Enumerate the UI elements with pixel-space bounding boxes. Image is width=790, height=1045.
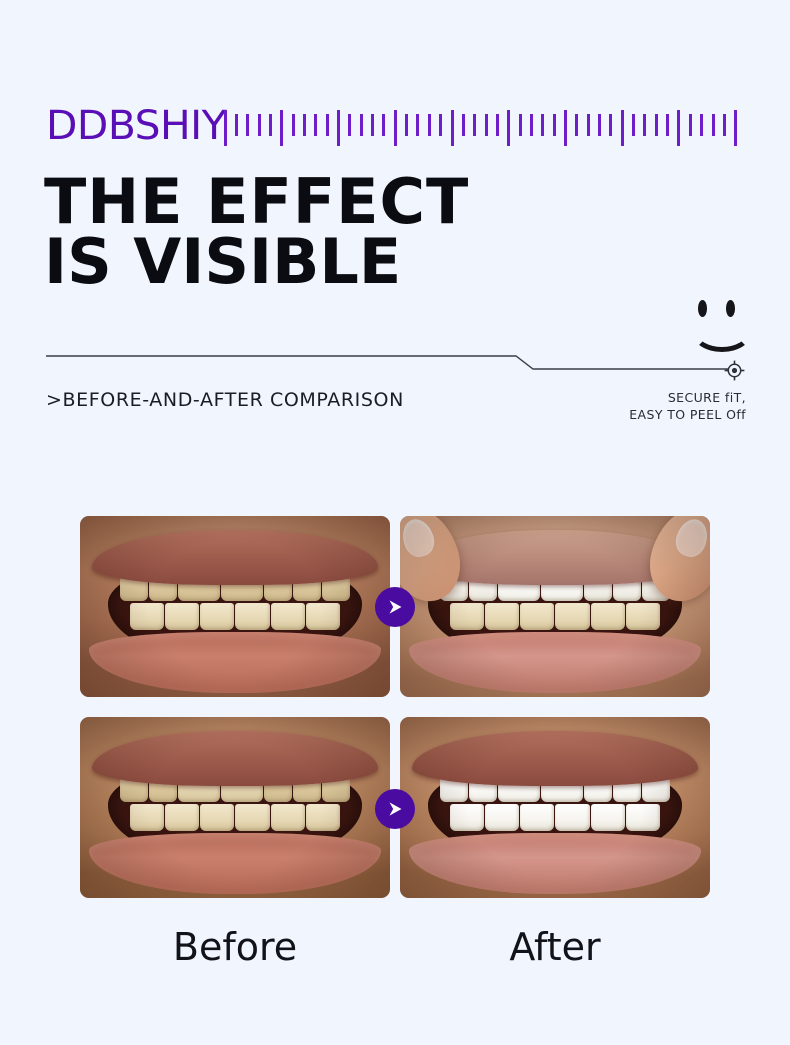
ruler-tick [348, 114, 351, 136]
ruler-tick [246, 114, 249, 136]
ruler-tick [337, 110, 340, 146]
headline-line-2: IS VISIBLE [44, 232, 469, 292]
comparison-cell-bottom-left[interactable] [80, 717, 390, 898]
ruler-tick [677, 110, 680, 146]
subcaption: >BEFORE-AND-AFTER COMPARISON [46, 389, 404, 411]
brand-logo: DDBSHIY [46, 106, 226, 146]
comparison-labels: Before After [80, 925, 710, 985]
label-before: Before [80, 925, 390, 969]
ruler-tick [507, 110, 510, 146]
ruler-tick [723, 114, 726, 136]
ruler-tick [643, 114, 646, 136]
ruler-tick [530, 114, 533, 136]
section-divider [46, 352, 746, 378]
ruler-tick [609, 114, 612, 136]
before-after-grid [80, 516, 710, 898]
ruler-tick [292, 114, 295, 136]
ruler-tick [598, 114, 601, 136]
ruler-tick [258, 114, 261, 136]
ruler-tick [269, 114, 272, 136]
promo-page: DDBSHIY THE EFFECT IS VISIBLE >BEFORE-AN… [0, 0, 790, 1045]
label-after: After [400, 925, 710, 969]
ruler-tick [485, 114, 488, 136]
ruler-tick [632, 114, 635, 136]
tagline-line-1: SECURE fiT, [629, 389, 746, 406]
ruler-tick [416, 114, 419, 136]
ruler-tick [519, 114, 522, 136]
tagline-line-2: EASY TO PEEL Off [629, 406, 746, 423]
ruler-tick [224, 110, 227, 146]
play-button-row-1[interactable] [375, 587, 415, 627]
ruler-tick [575, 114, 578, 136]
ruler-tick [428, 114, 431, 136]
ruler-tick [405, 114, 408, 136]
brand-row: DDBSHIY [46, 100, 746, 146]
ruler-decoration [224, 106, 746, 146]
headline-line-1: THE EFFECT [44, 172, 469, 232]
ruler-tick [496, 114, 499, 136]
ruler-tick [360, 114, 363, 136]
ruler-tick [439, 114, 442, 136]
tagline: SECURE fiT, EASY TO PEEL Off [629, 389, 746, 424]
ruler-tick [473, 114, 476, 136]
smiley-mouth-icon [692, 312, 752, 352]
photo-after-top [400, 516, 710, 697]
play-button-row-2[interactable] [375, 789, 415, 829]
ruler-tick [462, 114, 465, 136]
ruler-tick [303, 114, 306, 136]
photo-before-bottom [80, 717, 390, 898]
ruler-tick [382, 114, 385, 136]
photo-after-bottom [400, 717, 710, 898]
ruler-tick [371, 114, 374, 136]
photo-before-top [80, 516, 390, 697]
ruler-tick [621, 110, 624, 146]
ruler-tick [666, 114, 669, 136]
ruler-tick [712, 114, 715, 136]
smiley-face-icon [690, 298, 748, 344]
ruler-tick [689, 114, 692, 136]
ruler-tick [655, 114, 658, 136]
crosshair-target-icon [724, 360, 745, 381]
play-arrow-icon [385, 597, 405, 617]
ruler-tick [734, 110, 737, 146]
ruler-tick [564, 110, 567, 146]
ruler-tick [553, 114, 556, 136]
page-title: THE EFFECT IS VISIBLE [44, 172, 469, 291]
ruler-tick [700, 114, 703, 136]
ruler-tick [280, 110, 283, 146]
comparison-cell-top-left[interactable] [80, 516, 390, 697]
ruler-tick [326, 114, 329, 136]
play-arrow-icon [385, 799, 405, 819]
ruler-tick [235, 114, 238, 136]
ruler-tick [314, 114, 317, 136]
ruler-tick [587, 114, 590, 136]
ruler-tick [541, 114, 544, 136]
ruler-tick [451, 110, 454, 146]
comparison-cell-top-right[interactable] [400, 516, 710, 697]
comparison-cell-bottom-right[interactable] [400, 717, 710, 898]
ruler-tick [394, 110, 397, 146]
